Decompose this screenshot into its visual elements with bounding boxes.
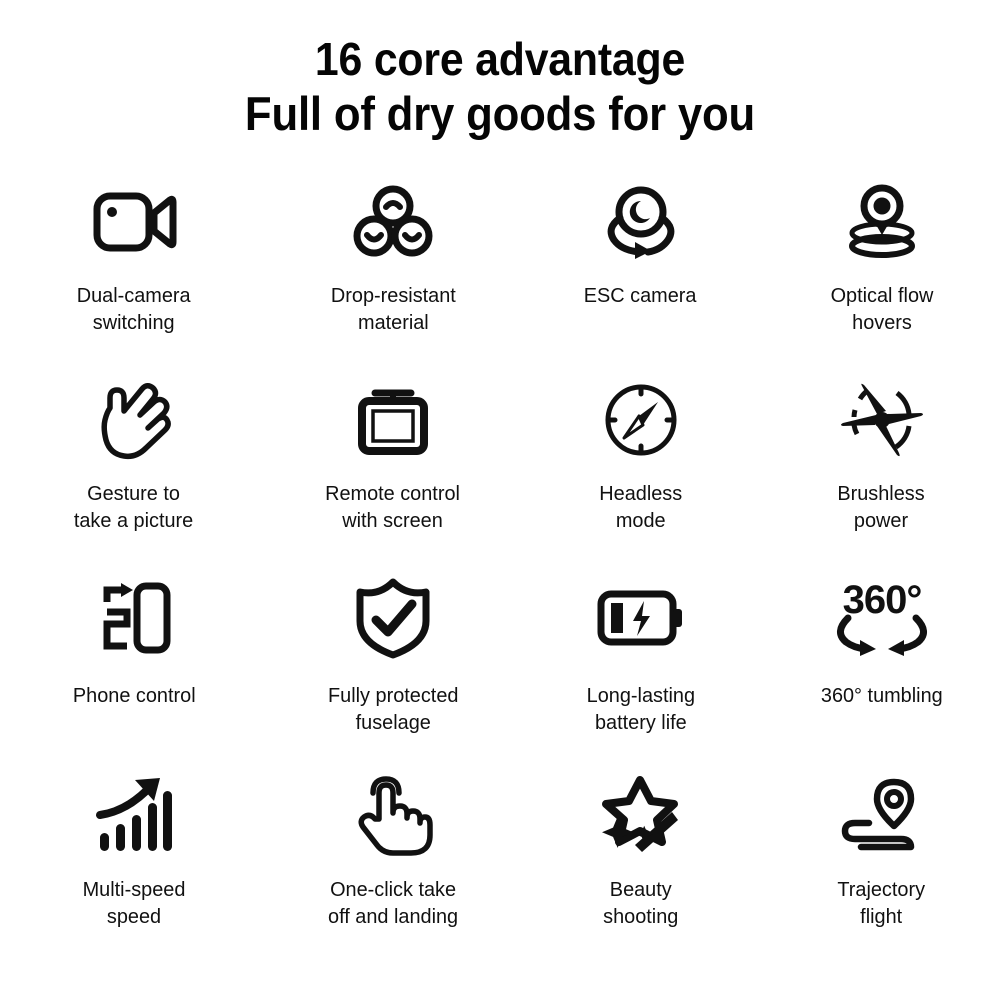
360-degrees-text: 360°	[842, 578, 921, 622]
waving-hand-icon	[86, 374, 182, 466]
three-bubbles-icon	[345, 176, 441, 268]
rotating-eye-camera-icon	[593, 176, 689, 268]
ascending-bar-chart-icon	[86, 770, 182, 862]
feature-label: Dual-camera switching	[77, 282, 191, 336]
feature-cell-one-click-take-off-and-landing: One-click take off and landing	[268, 770, 518, 968]
feature-label: One-click take off and landing	[328, 876, 458, 930]
feature-cell-esc-camera: ESC camera	[518, 176, 763, 374]
feature-cell-brushless-power: Brushless power	[763, 374, 1000, 572]
feature-label: Multi-speed speed	[83, 876, 186, 930]
feature-cell-dual-camera-switching: Dual-camera switching	[0, 176, 268, 374]
feature-cell-optical-flow-hovers: Optical flow hovers	[763, 176, 1000, 374]
features-grid: Dual-camera switching Drop-resistant mat…	[0, 176, 1000, 968]
feature-cell-long-lasting-battery-life: Long-lasting battery life	[518, 572, 763, 770]
battery-bolt-icon	[593, 572, 689, 664]
feature-label: Optical flow hovers	[830, 282, 933, 336]
feature-label: Remote control with screen	[326, 480, 461, 534]
360-rotation-icon: 360°	[834, 572, 930, 664]
feature-label: Phone control	[73, 682, 196, 709]
optical-flow-hover-icon	[834, 176, 930, 268]
video-camera-icon	[86, 176, 182, 268]
feature-cell-drop-resistant-material: Drop-resistant material	[268, 176, 518, 374]
feature-cell-remote-control-with-screen: Remote control with screen	[268, 374, 518, 572]
feature-label: Trajectory flight	[838, 876, 926, 930]
page-title-line-2: Full of dry goods for you	[35, 86, 965, 141]
feature-label: Gesture to take a picture	[74, 480, 193, 534]
feature-label: Long-lasting battery life	[586, 682, 694, 736]
feature-cell-360-tumbling: 360° 360° tumbling	[763, 572, 1000, 770]
feature-label: Fully protected fuselage	[328, 682, 458, 736]
feature-cell-multi-speed-speed: Multi-speed speed	[0, 770, 268, 968]
feature-label: Drop-resistant material	[331, 282, 456, 336]
feature-cell-beauty-shooting: Beauty shooting	[518, 770, 763, 968]
route-pin-icon	[834, 770, 930, 862]
phone-control-icon	[86, 572, 182, 664]
tap-finger-icon	[345, 770, 441, 862]
feature-cell-trajectory-flight: Trajectory flight	[763, 770, 1000, 968]
feature-cell-headless-mode: Headless mode	[518, 374, 763, 572]
shield-check-icon	[345, 572, 441, 664]
feature-label: Brushless power	[838, 480, 925, 534]
compass-icon	[593, 374, 689, 466]
page-title-line-1: 16 core advantage	[35, 32, 965, 86]
feature-label: 360° tumbling	[821, 682, 943, 709]
feature-cell-fully-protected-fuselage: Fully protected fuselage	[268, 572, 518, 770]
propeller-icon	[834, 374, 930, 466]
feature-grid-page: 16 core advantage Full of dry goods for …	[0, 0, 1000, 1000]
page-title: 16 core advantage Full of dry goods for …	[0, 0, 1000, 142]
feature-cell-phone-control: Phone control	[0, 572, 268, 770]
feature-label: Beauty shooting	[603, 876, 678, 930]
remote-controller-screen-icon	[345, 374, 441, 466]
feature-label: Headless mode	[599, 480, 682, 534]
feature-cell-gesture-to-take-a-picture: Gesture to take a picture	[0, 374, 268, 572]
feature-label: ESC camera	[584, 282, 697, 309]
magic-wand-star-icon	[593, 770, 689, 862]
